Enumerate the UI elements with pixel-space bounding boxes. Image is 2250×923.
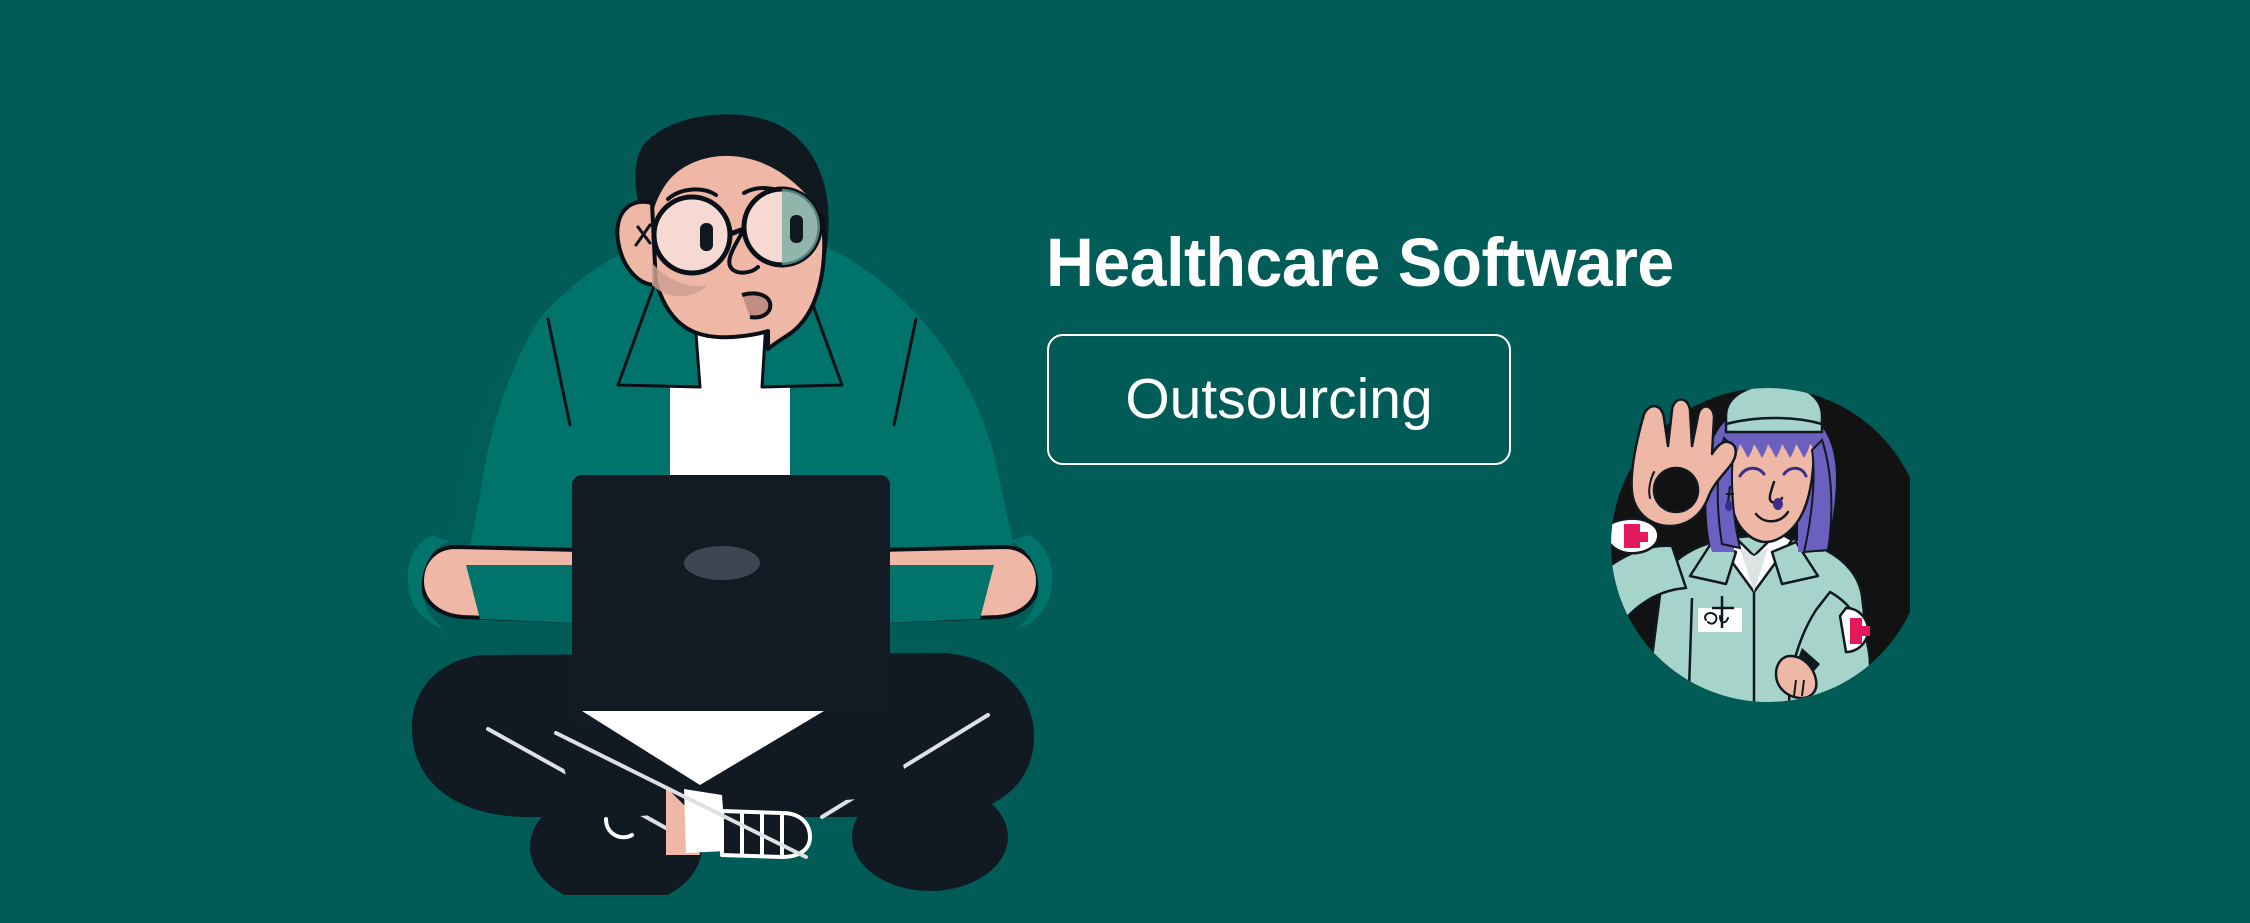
- healthcare-software-outsourcing-banner: Healthcare Software Outsourcing: [0, 0, 2250, 923]
- page-title: Healthcare Software: [1046, 228, 1756, 297]
- subtitle-pill: Outsourcing: [1047, 334, 1511, 465]
- subtitle-label: Outsourcing: [1125, 371, 1432, 428]
- headline-block: Healthcare Software: [1046, 228, 1786, 297]
